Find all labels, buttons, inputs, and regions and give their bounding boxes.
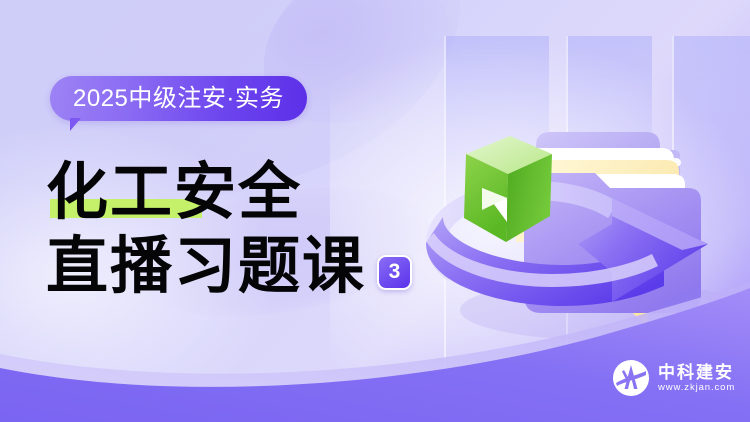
episode-number-badge: 3 [377,255,412,290]
headline-row-2: 直播习题课 3 [46,234,412,298]
brand-name: 中科建安 [658,364,735,381]
bottom-sweep-band [0,282,750,422]
course-badge: 2025中级注安·实务 [50,76,307,121]
brand-text: 中科建安 www.zkjan.com [658,364,735,393]
badge-tail [70,118,81,131]
badge-pill: 2025中级注安·实务 [50,76,307,121]
course-banner: 2025中级注安·实务 化工安全 直播习题课 3 中科建安 www.zkjan.… [0,0,750,422]
badge-label: 2025中级注安·实务 [73,87,284,111]
brand-url: www.zkjan.com [658,383,735,393]
zkjan-circle-icon [612,359,650,397]
headline-row-1: 化工安全 [46,160,412,224]
brand-logo: 中科建安 www.zkjan.com [612,359,735,397]
headline-line-2: 直播习题课 [46,234,366,298]
headline-line-1: 化工安全 [46,160,302,224]
headline-block: 化工安全 直播习题课 3 [46,160,412,299]
